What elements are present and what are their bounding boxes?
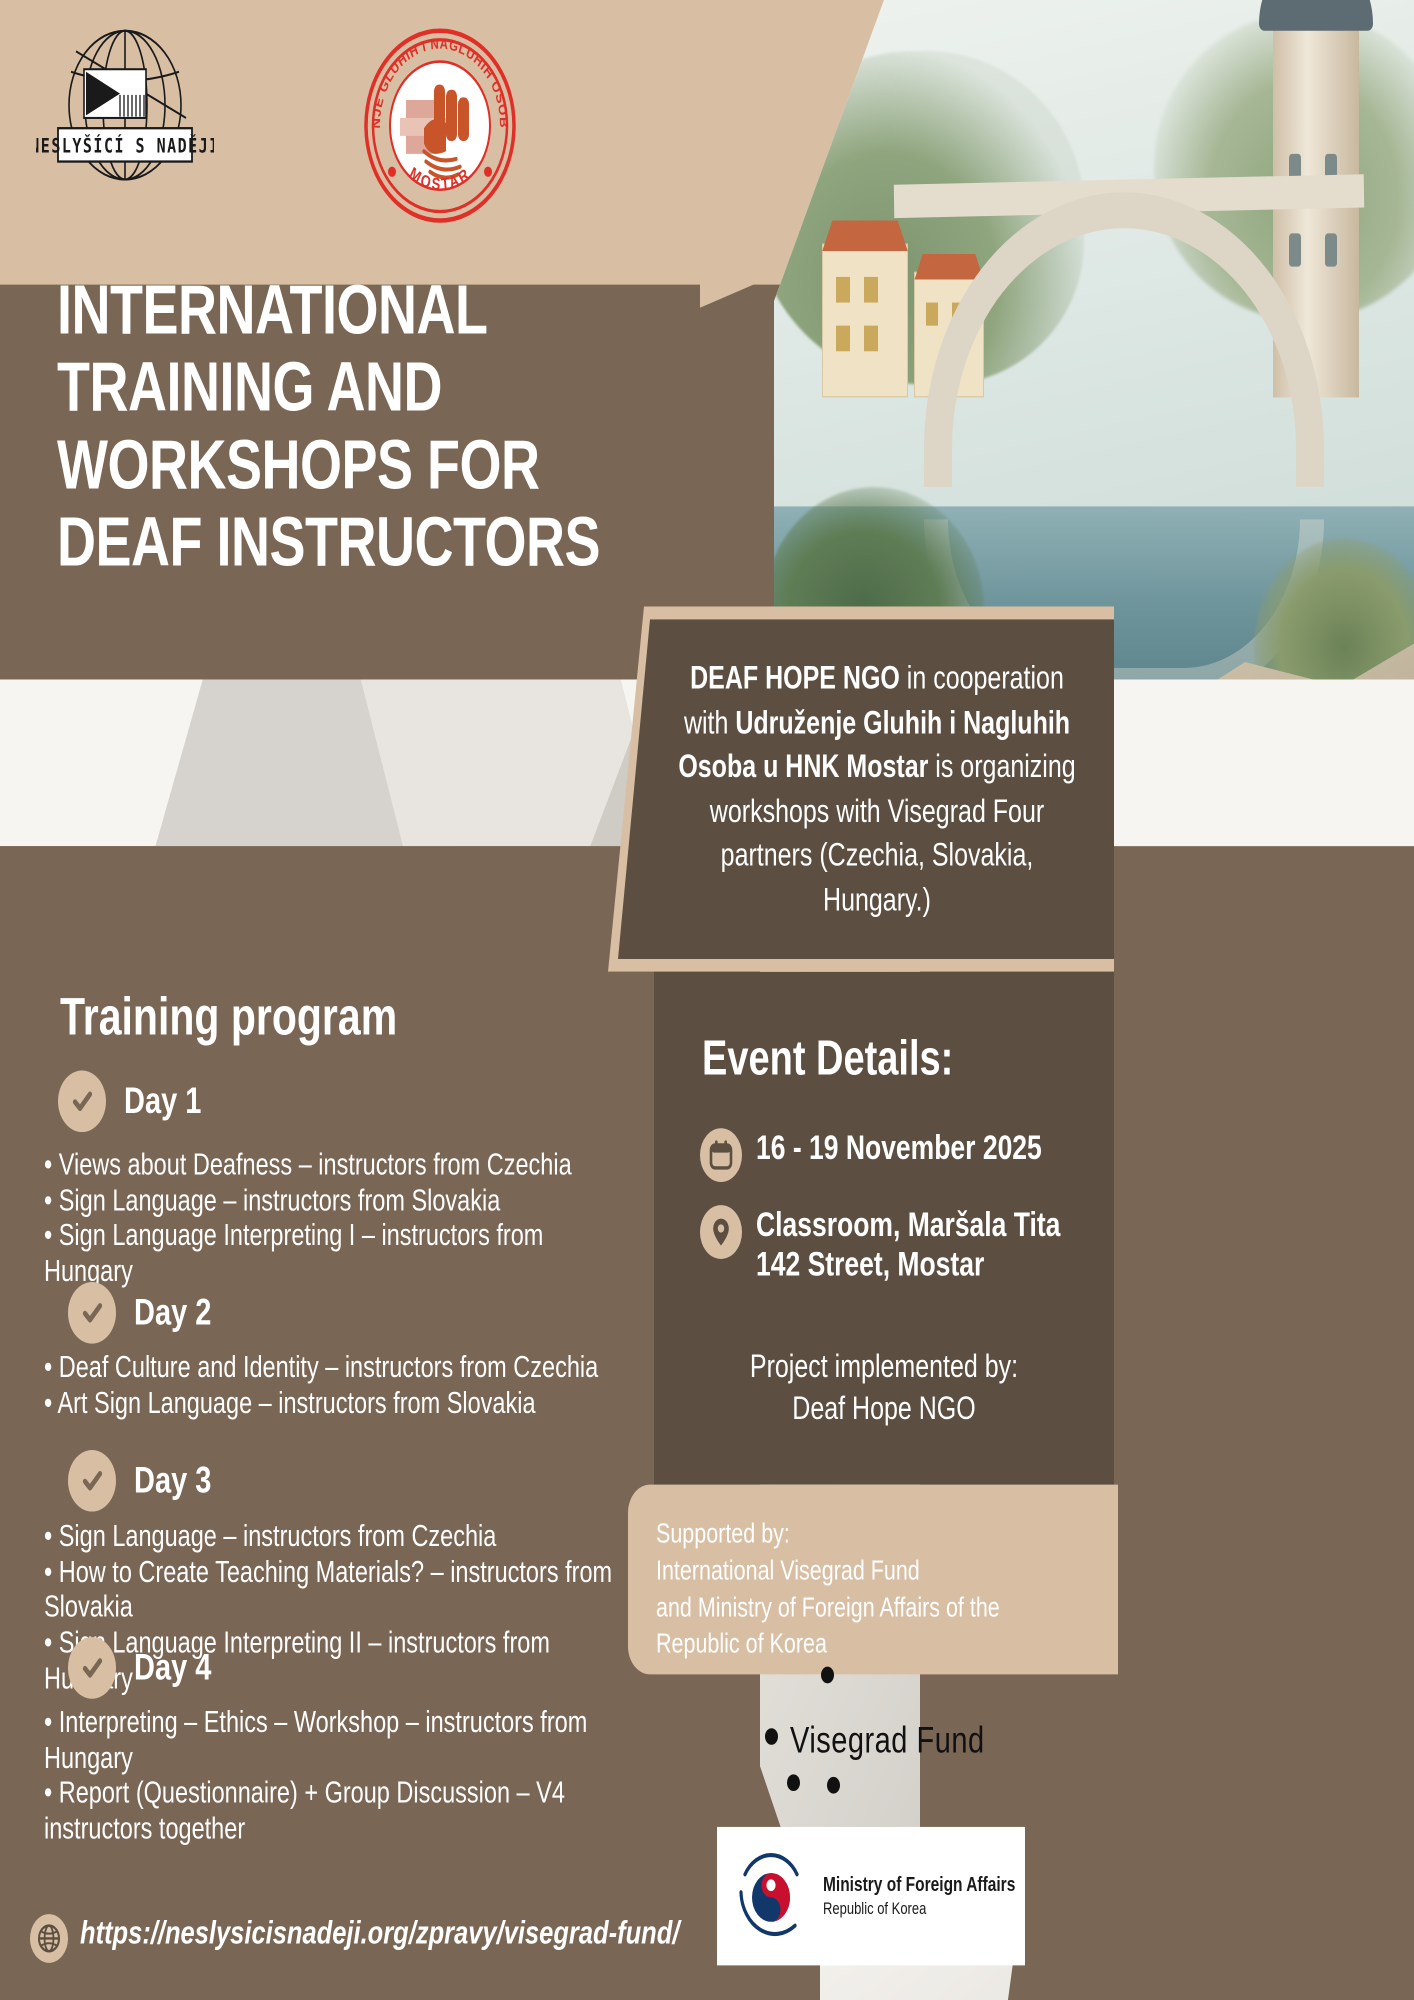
korea-mofa-logo: Ministry of Foreign Affairs Republic of … xyxy=(717,1827,1025,1965)
event-location-row: Classroom, Maršala Tita 142 Street, Most… xyxy=(700,1205,1100,1285)
day-row-4: Day 4 xyxy=(68,1637,211,1699)
check-circle-icon xyxy=(68,1637,116,1699)
day-items-4: • Interpreting – Ethics – Workshop – ins… xyxy=(44,1705,636,1847)
day-items-1: • Views about Deafness – instructors fro… xyxy=(44,1147,636,1289)
day-row-3: Day 3 xyxy=(68,1450,211,1512)
event-location: Classroom, Maršala Tita 142 Street, Most… xyxy=(756,1205,1100,1285)
event-details-heading: Event Details: xyxy=(702,1032,953,1087)
check-circle-icon xyxy=(68,1450,116,1512)
day-items-2: • Deaf Culture and Identity – instructor… xyxy=(44,1350,636,1421)
day-label: Day 1 xyxy=(124,1080,201,1122)
korea-logo-line2: Republic of Korea xyxy=(823,1898,1015,1918)
page-title: INTERNATIONAL TRAINING AND WORKSHOPS FOR… xyxy=(57,272,617,582)
day-label: Day 3 xyxy=(134,1460,211,1502)
check-circle-icon xyxy=(58,1071,106,1133)
globe-logo-caption: NESLYŠÍCÍ S NADĚJI xyxy=(36,134,214,159)
udruzenje-gluhih-stamp-logo: UDRUŽENJE GLUHIH I NAGLUHIH OSOBA U HNK … xyxy=(364,28,516,223)
event-date-row: 16 - 19 November 2025 xyxy=(700,1128,1100,1182)
event-implemented-by: Project implemented by: Deaf Hope NGO xyxy=(654,1346,1114,1429)
calendar-icon xyxy=(700,1128,742,1182)
day-row-2: Day 2 xyxy=(68,1282,211,1344)
footer-url[interactable]: https://neslysicisnadeji.org/zpravy/vise… xyxy=(80,1915,679,1952)
program-heading: Training program xyxy=(60,987,397,1047)
check-circle-icon xyxy=(68,1282,116,1344)
event-date: 16 - 19 November 2025 xyxy=(756,1128,1042,1168)
day-row-1: Day 1 xyxy=(58,1071,201,1133)
coop-org-primary: DEAF HOPE NGO xyxy=(690,660,900,696)
visegrad-fund-label: Visegrad Fund xyxy=(790,1721,985,1763)
korea-logo-line1: Ministry of Foreign Affairs xyxy=(823,1874,1015,1898)
visegrad-fund-logo: Visegrad Fund xyxy=(735,1667,1065,1821)
map-pin-icon xyxy=(700,1205,742,1259)
globe-icon xyxy=(30,1914,68,1963)
day-label: Day 2 xyxy=(134,1292,211,1334)
supported-by-box: Supported by: International Visegrad Fun… xyxy=(628,1485,1118,1675)
cooperation-callout: DEAF HOPE NGO in cooperation with Udruže… xyxy=(608,606,1114,971)
neslysici-s-nadeji-logo: NESLYŠÍCÍ S NADĚJI xyxy=(36,28,214,188)
poster-root: NESLYŠÍCÍ S NADĚJI xyxy=(0,0,1414,2000)
taegeuk-icon xyxy=(735,1849,809,1944)
day-label: Day 4 xyxy=(134,1647,211,1689)
